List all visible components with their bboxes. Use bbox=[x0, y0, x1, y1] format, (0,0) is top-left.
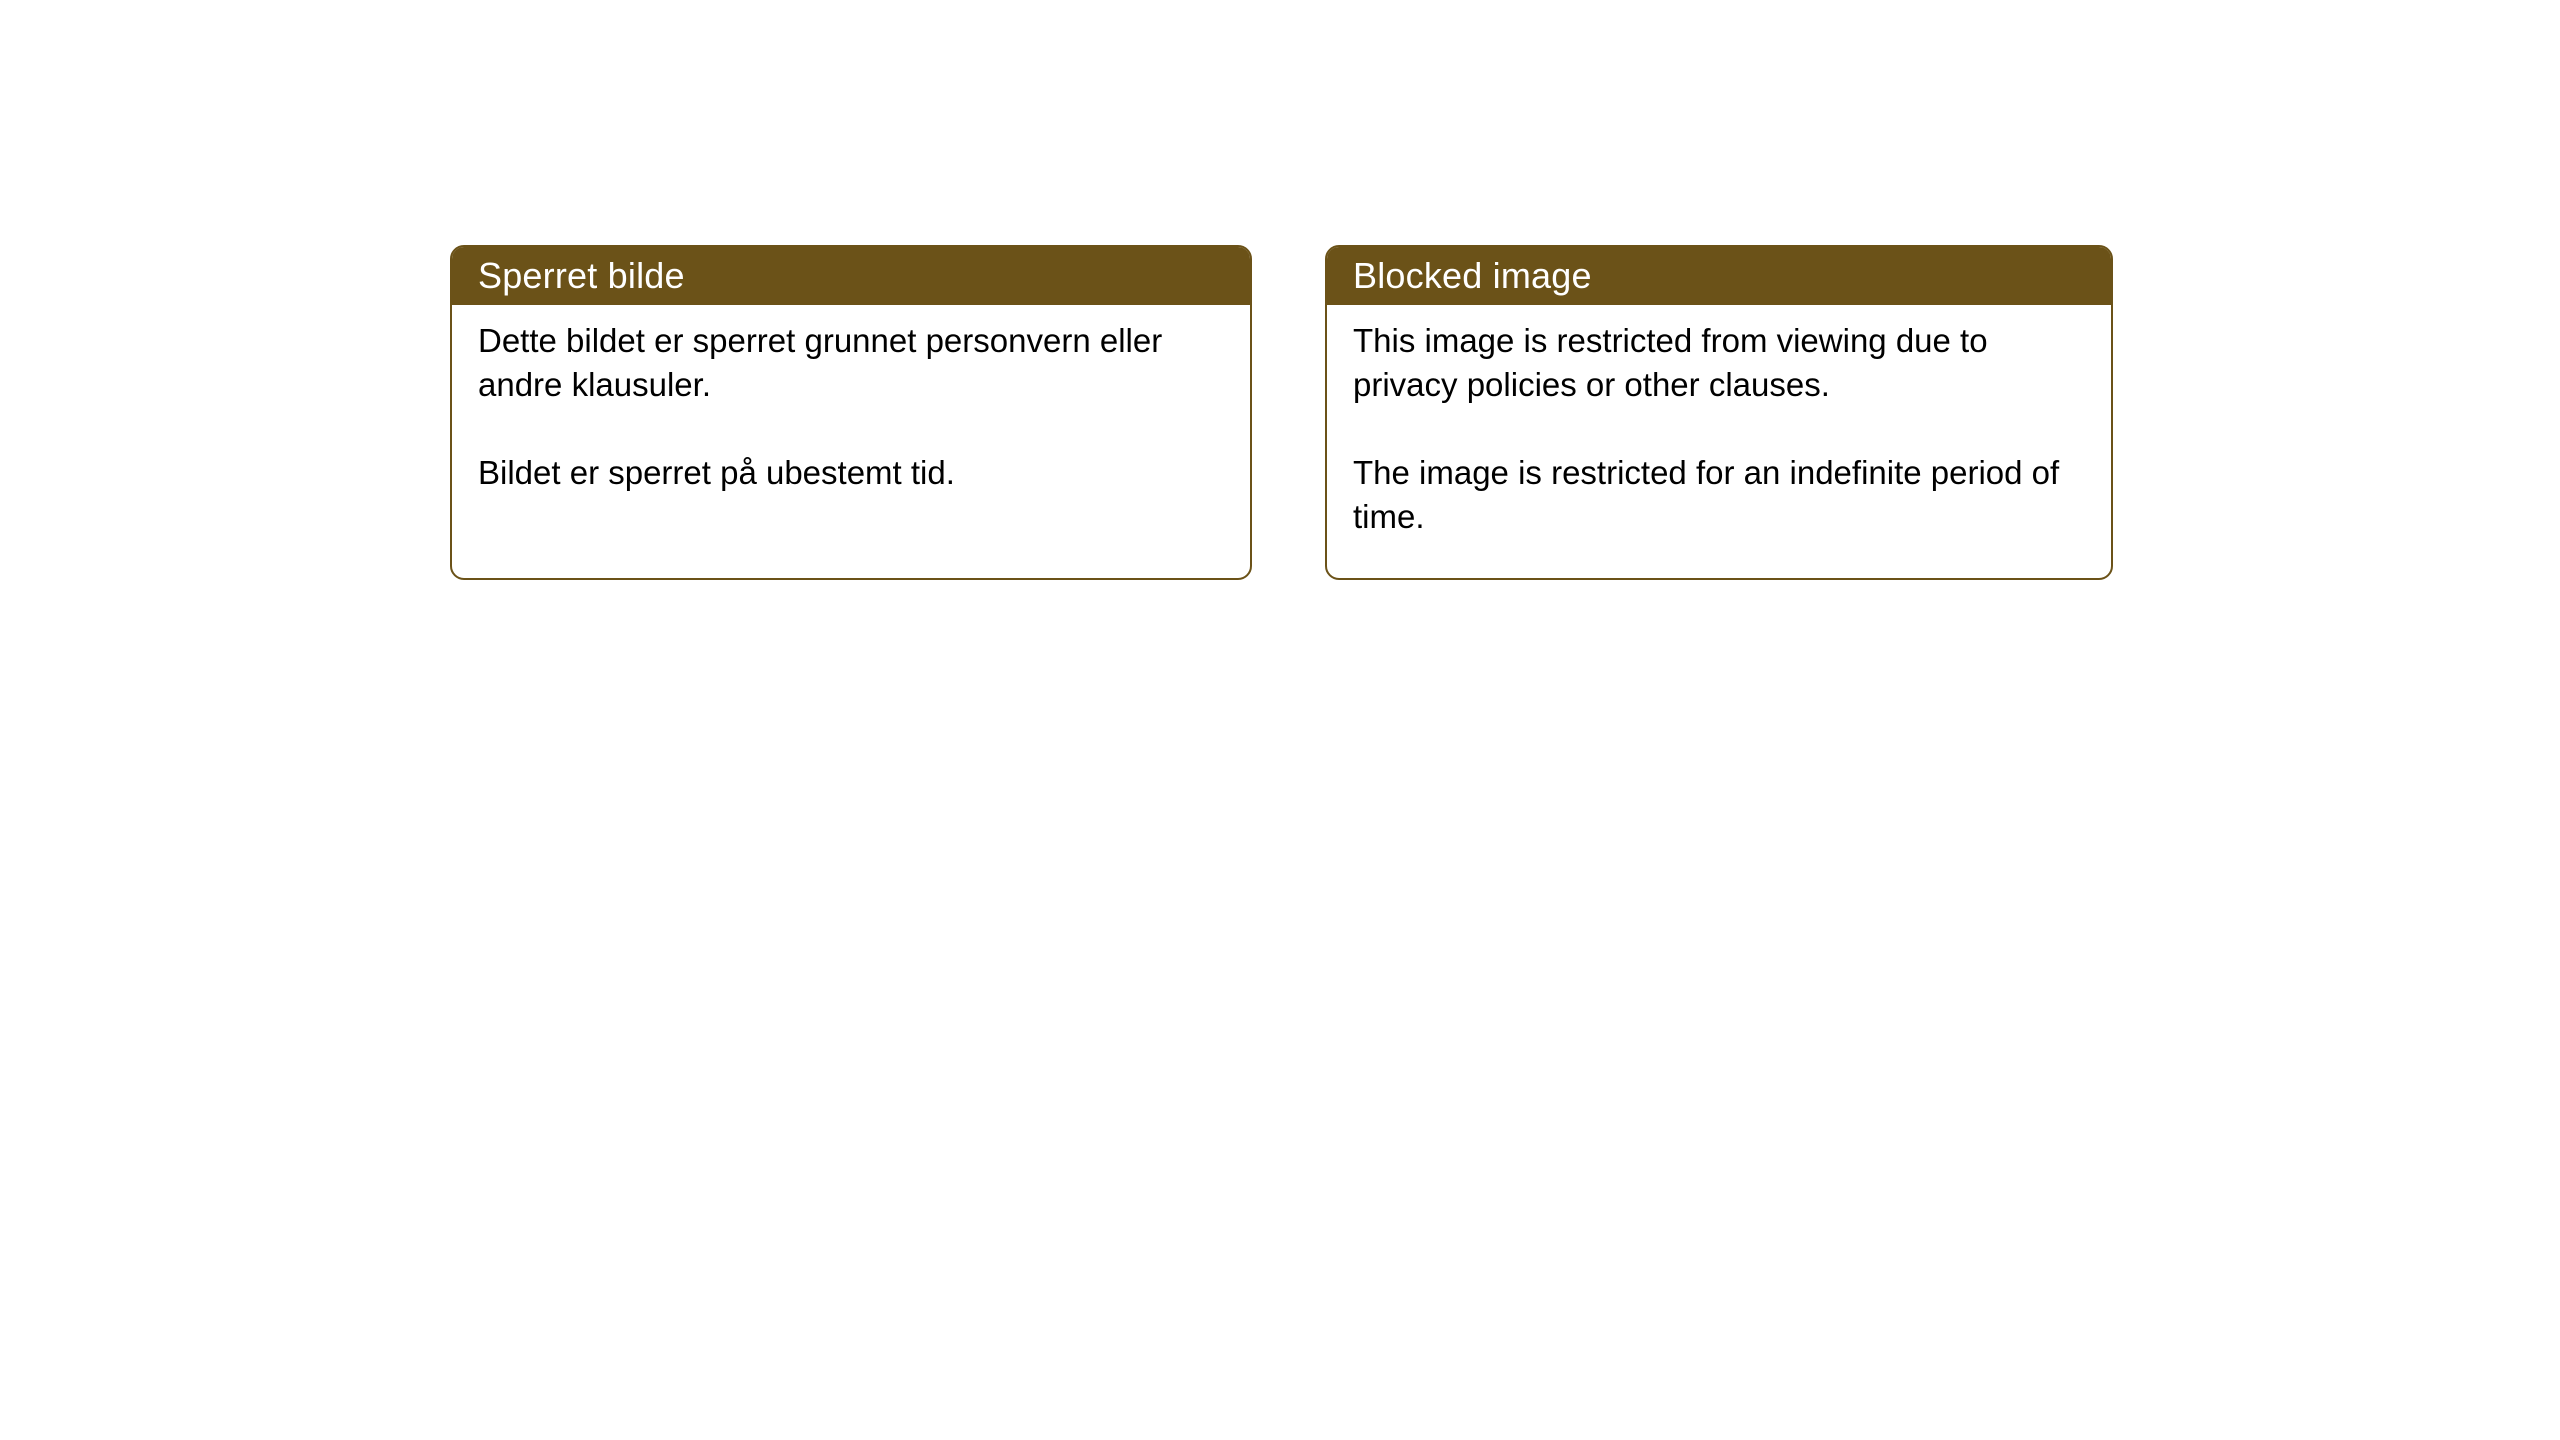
blocked-image-notice-norwegian: Sperret bilde Dette bildet er sperret gr… bbox=[450, 245, 1252, 580]
blocked-image-notice-english: Blocked image This image is restricted f… bbox=[1325, 245, 2113, 580]
paragraph-spacer bbox=[478, 407, 1228, 451]
notice-body-norwegian: Dette bildet er sperret grunnet personve… bbox=[452, 305, 1250, 578]
paragraph-spacer bbox=[1353, 407, 2089, 451]
notice-paragraph-secondary-english: The image is restricted for an indefinit… bbox=[1353, 451, 2089, 539]
notice-title-english: Blocked image bbox=[1353, 258, 1592, 294]
notice-header-english: Blocked image bbox=[1327, 247, 2111, 305]
notice-paragraph-secondary-norwegian: Bildet er sperret på ubestemt tid. bbox=[478, 451, 1228, 495]
notice-body-english: This image is restricted from viewing du… bbox=[1327, 305, 2111, 578]
notice-paragraph-primary-english: This image is restricted from viewing du… bbox=[1353, 319, 2089, 407]
notice-header-norwegian: Sperret bilde bbox=[452, 247, 1250, 305]
notice-title-norwegian: Sperret bilde bbox=[478, 258, 685, 294]
blocked-image-notice-group: Sperret bilde Dette bildet er sperret gr… bbox=[450, 245, 2113, 580]
notice-paragraph-primary-norwegian: Dette bildet er sperret grunnet personve… bbox=[478, 319, 1228, 407]
